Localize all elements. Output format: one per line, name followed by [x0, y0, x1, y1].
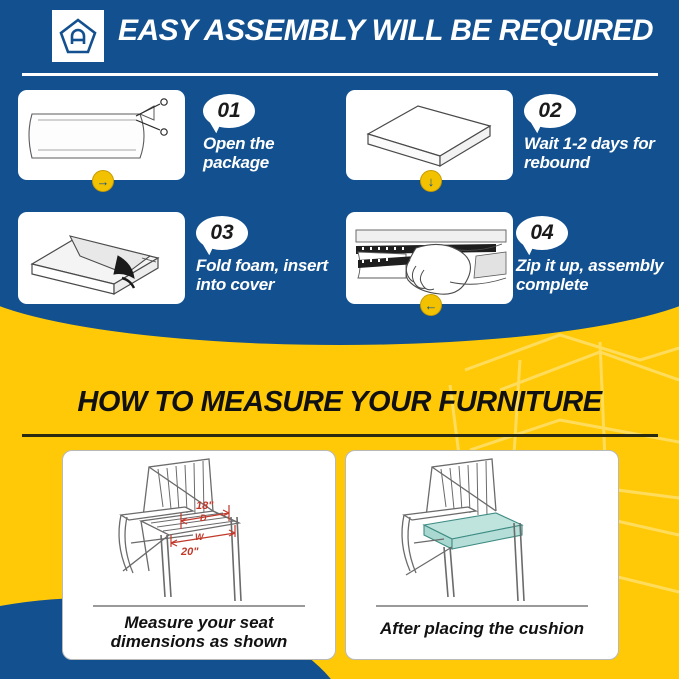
measure-title-divider: [22, 434, 658, 437]
arrow-right-badge: →: [92, 170, 114, 192]
infographic-page: EASY ASSEMBLY WILL BE REQUIRED → 01: [0, 0, 679, 679]
step-04-number-bubble: 04: [516, 216, 568, 250]
measure-card-caption: Measure your seat dimensions as shown: [73, 613, 325, 652]
card-divider: [93, 605, 305, 607]
arrow-down-badge: ↓: [420, 170, 442, 192]
measure-card-caption: After placing the cushion: [356, 619, 608, 638]
foam-inserted-into-cover-icon: [18, 212, 185, 304]
arrow-left-badge: ←: [420, 294, 442, 316]
step-01-illustration-card: [18, 90, 185, 180]
step-03-illustration-card: [18, 212, 185, 304]
step-01: → 01 Open the package: [18, 90, 348, 200]
chair-with-cushion-icon: [346, 451, 618, 603]
step-number: 02: [538, 99, 561, 123]
step-number: 04: [530, 221, 553, 245]
step-04-text: Zip it up, assembly complete: [516, 256, 678, 294]
step-01-number-bubble: 01: [203, 94, 255, 128]
step-03: 03 Fold foam, insert into cover: [18, 212, 348, 322]
flat-foam-cushion-icon: [346, 90, 513, 180]
package-with-scissors-icon: [18, 90, 185, 180]
measure-card-cushion: After placing the cushion: [345, 450, 619, 660]
arrow-glyph: →: [97, 175, 110, 188]
step-02-text: Wait 1-2 days for rebound: [524, 134, 674, 172]
step-02: ↓ 02 Wait 1-2 days for rebound: [346, 90, 676, 200]
step-number: 03: [210, 221, 233, 245]
cushion-shape: [424, 513, 522, 549]
step-01-text: Open the package: [203, 134, 353, 172]
measure-section-title: HOW TO MEASURE YOUR FURNITURE: [0, 386, 679, 419]
arrow-glyph: ↓: [428, 175, 435, 188]
step-03-text: Fold foam, insert into cover: [196, 256, 346, 294]
width-value-label: 20": [180, 546, 199, 558]
depth-value-label: 18": [196, 500, 214, 512]
chair-with-dimensions-icon: 18" D W 20": [63, 451, 335, 603]
page-title: EASY ASSEMBLY WILL BE REQUIRED: [118, 14, 653, 48]
step-04-illustration-card: [346, 212, 513, 304]
hand-zipping-zipper-icon: [346, 212, 513, 304]
step-02-number-bubble: 02: [524, 94, 576, 128]
step-number: 01: [217, 99, 240, 123]
depth-letter-label: D: [200, 513, 207, 523]
step-02-illustration-card: [346, 90, 513, 180]
step-03-number-bubble: 03: [196, 216, 248, 250]
header-divider: [22, 73, 658, 76]
home-pentagon-icon: [52, 10, 104, 62]
step-04: ← 04 Zip it up, assembly complete: [346, 212, 676, 322]
measure-card-dimensions: 18" D W 20" Measure your seat dimensions…: [62, 450, 336, 660]
arrow-glyph: ←: [425, 299, 438, 312]
width-letter-label: W: [195, 532, 205, 542]
card-divider: [376, 605, 588, 607]
